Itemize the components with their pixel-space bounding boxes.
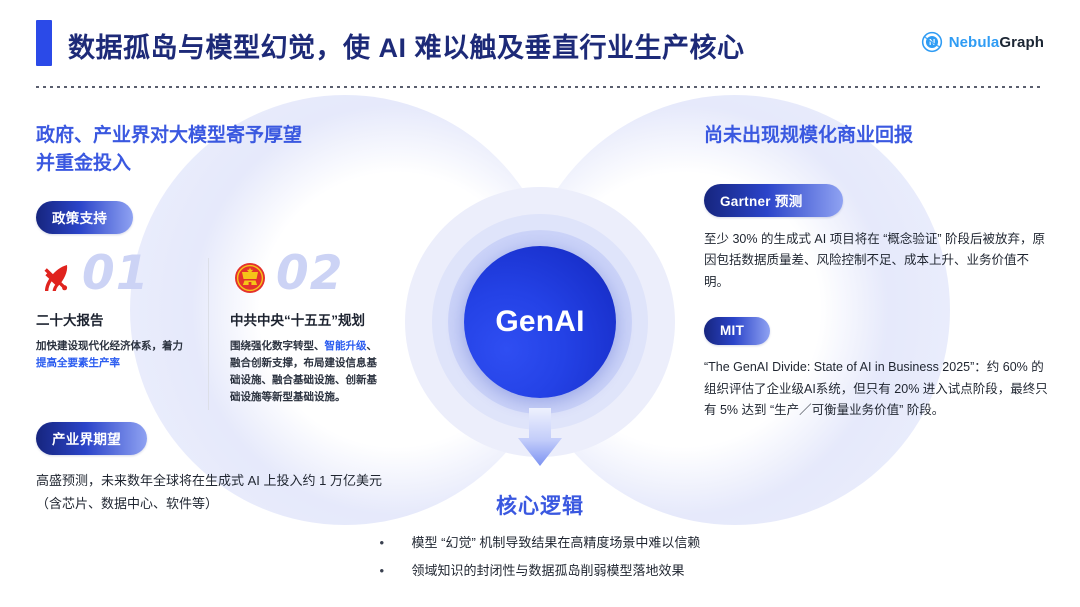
policy-card-divider <box>208 258 209 410</box>
policy-card-01-body-pre: 加快建设现代化经济体系，着力 <box>36 340 183 352</box>
left-column: 政府、产业界对大模型寄予厚望 并重金投入 政策支持 01 二十大报告 加快建设现… <box>36 122 386 515</box>
badge-industry-expectation: 产业界期望 <box>36 422 147 455</box>
down-arrow-icon <box>509 408 571 470</box>
policy-card-01-body-highlight: 提高全要素生产率 <box>36 357 120 369</box>
policy-card-01-body: 加快建设现代化经济体系，着力提高全要素生产率 <box>36 338 186 372</box>
hammer-and-sickle-emblem-icon <box>36 258 76 298</box>
list-item: • 模型 “幻觉” 机制导致结果在高精度场景中难以信赖 <box>380 533 701 553</box>
policy-card-02-top: 02 <box>230 256 380 308</box>
title-accent-bar <box>36 20 52 66</box>
bullet-text-1: 模型 “幻觉” 机制导致结果在高精度场景中难以信赖 <box>412 533 701 553</box>
right-column-heading: 尚未出现规模化商业回报 <box>704 122 1049 150</box>
policy-card-02-number: 02 <box>276 246 343 301</box>
slide-root: 数据孤岛与模型幻觉，使 AI 难以触及垂直行业生产核心 NebulaGraph … <box>0 0 1080 607</box>
badge-policy-support: 政策支持 <box>36 201 133 234</box>
logo-wordmark: NebulaGraph <box>949 34 1044 51</box>
policy-card-01-number: 01 <box>82 246 149 301</box>
bullet-dot-icon: • <box>380 561 386 581</box>
logo-text-graph: Graph <box>999 34 1044 51</box>
policy-card-01-title: 二十大报告 <box>36 312 186 331</box>
bullet-text-2: 领域知识的封闭性与数据孤岛削弱模型落地效果 <box>412 561 685 581</box>
slide-header: 数据孤岛与模型幻觉，使 AI 难以触及垂直行业生产核心 NebulaGraph <box>0 0 1080 92</box>
badge-gartner-forecast: Gartner 预测 <box>704 184 843 217</box>
logo-text-nebula: Nebula <box>949 34 1000 51</box>
nebula-mark-icon <box>921 31 943 53</box>
policy-card-01: 01 二十大报告 加快建设现代化经济体系，着力提高全要素生产率 <box>36 256 186 406</box>
policy-cards: 01 二十大报告 加快建设现代化经济体系，着力提高全要素生产率 <box>36 256 386 406</box>
header-divider <box>36 86 1044 88</box>
genai-label: GenAI <box>495 305 584 339</box>
core-logic-bullets: • 模型 “幻觉” 机制导致结果在高精度场景中难以信赖 • 领域知识的封闭性与数… <box>380 533 701 588</box>
policy-card-02-body: 围绕强化数字转型、智能升级、融合创新支撑，布局建设信息基础设施、融合基础设施、创… <box>230 338 380 406</box>
badge-mit: MIT <box>704 317 770 345</box>
policy-card-02-body-pre: 围绕强化数字转型、 <box>230 340 325 352</box>
bullet-dot-icon: • <box>380 533 386 553</box>
policy-card-01-top: 01 <box>36 256 186 308</box>
nebulagraph-logo: NebulaGraph <box>921 31 1044 53</box>
policy-card-02-title: 中共中央“十五五”规划 <box>230 312 380 331</box>
policy-card-02-body-highlight: 智能升级 <box>325 340 367 352</box>
china-national-emblem-icon <box>230 258 270 298</box>
policy-card-02: 02 中共中央“十五五”规划 围绕强化数字转型、智能升级、融合创新支撑，布局建设… <box>208 256 380 406</box>
core-logic-title: 核心逻辑 <box>0 490 1080 520</box>
right-column: 尚未出现规模化商业回报 Gartner 预测 至少 30% 的生成式 AI 项目… <box>704 122 1049 422</box>
genai-circle: GenAI <box>464 246 616 398</box>
gartner-forecast-text: 至少 30% 的生成式 AI 项目将在 “概念验证” 阶段后被放弃，原因包括数据… <box>704 229 1049 294</box>
page-title: 数据孤岛与模型幻觉，使 AI 难以触及垂直行业生产核心 <box>68 26 745 65</box>
mit-report-text: “The GenAI Divide: State of AI in Busine… <box>704 357 1049 422</box>
left-column-heading: 政府、产业界对大模型寄予厚望 并重金投入 <box>36 122 386 177</box>
list-item: • 领域知识的封闭性与数据孤岛削弱模型落地效果 <box>380 561 701 581</box>
bottom-section: 核心逻辑 • 模型 “幻觉” 机制导致结果在高精度场景中难以信赖 • 领域知识的… <box>0 490 1080 588</box>
